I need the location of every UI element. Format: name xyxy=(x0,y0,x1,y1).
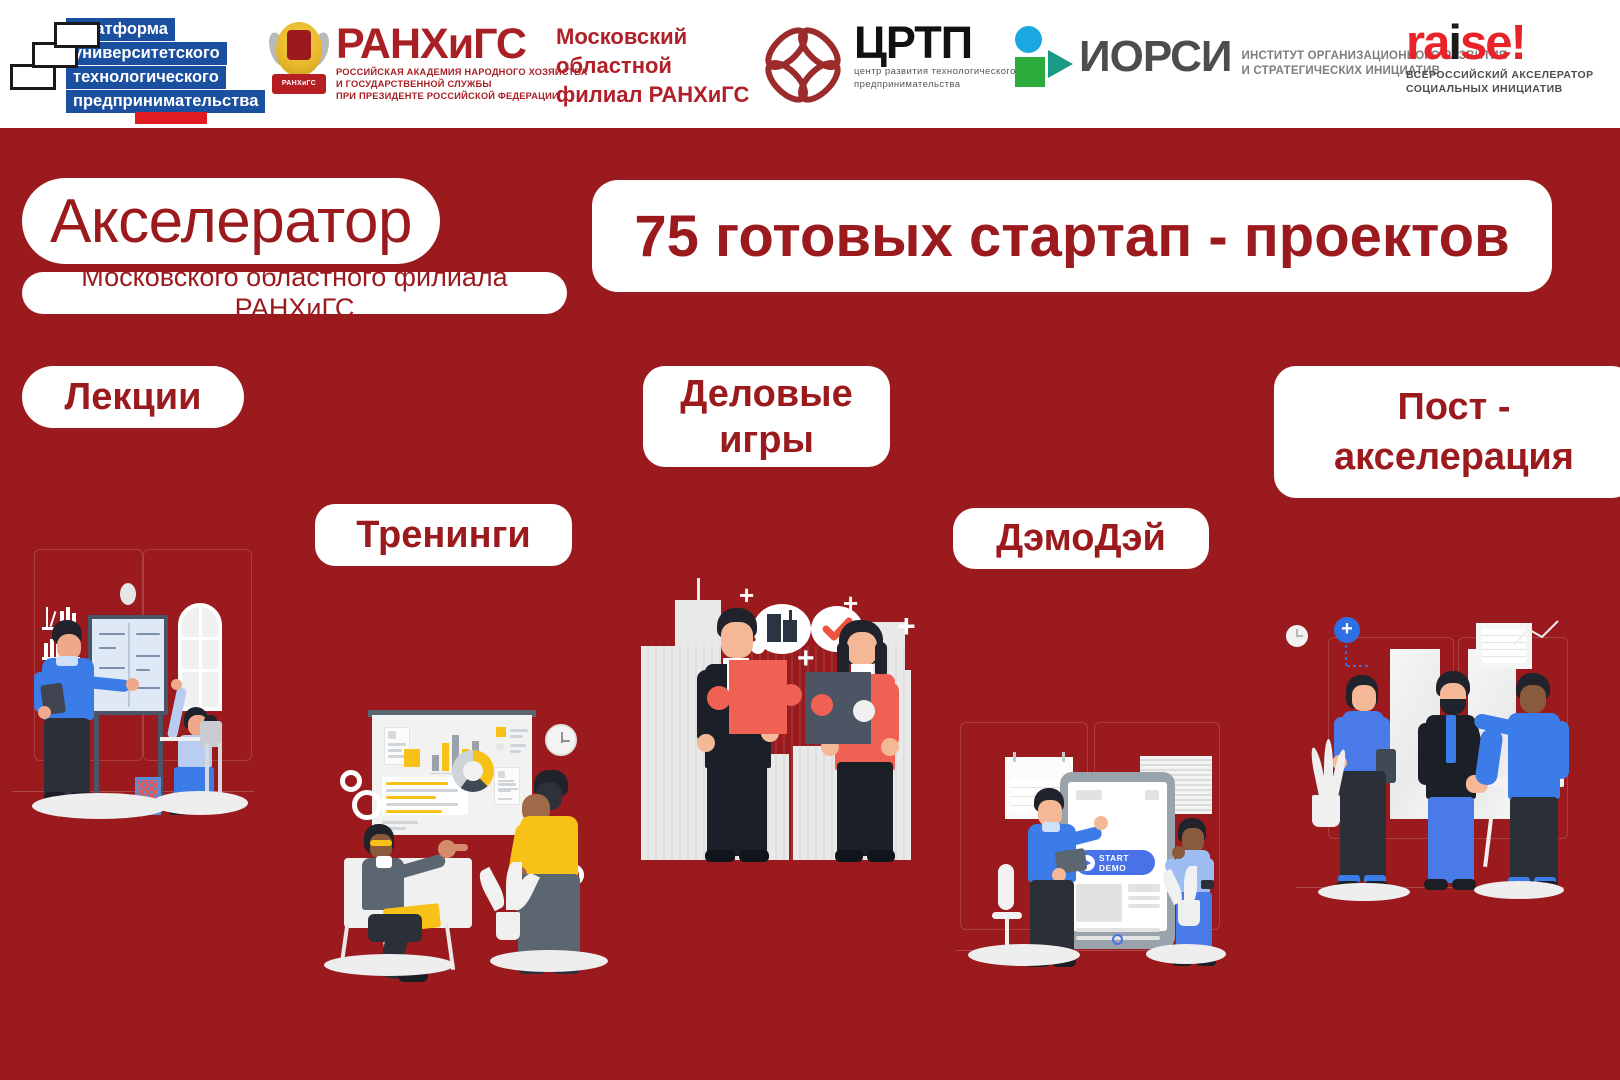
emblem-ribbon-label: РАНХиГС xyxy=(272,74,326,94)
potted-plant-icon xyxy=(496,912,520,940)
iorsi-wordmark: ИОРСИ xyxy=(1079,34,1232,80)
ranhigs-wordmark: РАНХиГС xyxy=(336,22,588,66)
lecture-illustration xyxy=(0,545,265,840)
trend-line-icon xyxy=(1512,619,1560,649)
logo-ranhigs: РАНХиГС РАНХиГС РОССИЙСКАЯ АКАДЕМИЯ НАРО… xyxy=(270,16,588,108)
colleague-figure xyxy=(1500,673,1572,895)
logo-raise: raise! ВСЕРОССИЙСКИЙ АКСЕЛЕРАТОР СОЦИАЛЬ… xyxy=(1406,18,1594,96)
plus-badge-icon: + xyxy=(1334,617,1360,643)
presentation-slide: Платформа университетского технологическ… xyxy=(0,0,1620,1080)
gear-icon xyxy=(340,770,362,792)
teacher-figure xyxy=(30,620,110,810)
training-illustration xyxy=(300,672,590,972)
home-button-icon xyxy=(1112,934,1123,945)
russian-coat-of-arms-icon: РАНХиГС xyxy=(270,16,328,108)
wall-clock-icon xyxy=(1286,625,1308,647)
presenter-figure xyxy=(1022,788,1106,970)
crtp-wordmark: ЦРТП xyxy=(854,20,1016,66)
putp-line-4: предпринимательства xyxy=(66,90,265,113)
games-line-2: игры xyxy=(680,417,852,463)
seated-woman-figure xyxy=(354,824,474,972)
stage-label-demo-day: ДэмоДэй xyxy=(953,508,1209,569)
demo-day-illustration: START DEMO xyxy=(950,722,1215,972)
page-title-accelerator: Акселератор xyxy=(22,178,440,264)
ranhigs-sub-1: РОССИЙСКАЯ АКАДЕМИЯ НАРОДНОГО ХОЗЯЙСТВА xyxy=(336,66,588,78)
puzzle-piece-red xyxy=(729,660,787,734)
potted-plant-icon xyxy=(1312,795,1340,827)
stage-label-trainings: Тренинги xyxy=(315,504,572,566)
business-games-illustration: + + + + xyxy=(625,560,910,860)
postacc-line-2: акселерация xyxy=(1334,432,1574,482)
plus-decoration-icon: + xyxy=(739,582,754,608)
mob-line-3: филиал РАНХиГС xyxy=(556,80,749,109)
mob-line-1: Московский xyxy=(556,22,749,51)
mob-line-2: областной xyxy=(556,51,749,80)
stage-label-lectures: Лекции xyxy=(22,366,244,428)
post-acceleration-illustration: + xyxy=(1262,605,1562,895)
logo-header-bar: Платформа университетского технологическ… xyxy=(0,0,1620,128)
steps-icon xyxy=(10,24,82,108)
raise-sub-1: ВСЕРОССИЙСКИЙ АКСЕЛЕРАТОР xyxy=(1406,68,1594,82)
raise-sub-2: СОЦИАЛЬНЫХ ИНИЦИАТИВ xyxy=(1406,82,1594,96)
crtp-butterfly-icon xyxy=(760,22,846,108)
putp-red-bar xyxy=(135,112,207,124)
postacc-line-1: Пост - xyxy=(1334,382,1574,432)
putp-line-3: технологического xyxy=(66,66,226,89)
logo-crtp: ЦРТП центр развития технологического пре… xyxy=(760,20,1016,91)
startups-count-badge: 75 готовых стартап - проектов xyxy=(592,180,1552,292)
stage-label-business-games: Деловые игры xyxy=(643,366,890,467)
donut-chart-icon xyxy=(452,750,494,792)
woman-figure xyxy=(1332,675,1396,895)
iorsi-shapes-icon xyxy=(1015,26,1073,88)
logo-moskovskiy-oblastnoy-filial: Московский областной филиал РАНХиГС xyxy=(556,22,749,109)
crtp-sub-1: центр развития технологического xyxy=(854,66,1016,79)
wall-clock-icon xyxy=(545,724,577,756)
ranhigs-sub-3: ПРИ ПРЕЗИДЕНТЕ РОССИЙСКОЙ ФЕДЕРАЦИИ xyxy=(336,90,588,102)
start-demo-label: START DEMO xyxy=(1099,853,1155,873)
ranhigs-sub-2: И ГОСУДАРСТВЕННОЙ СЛУЖБЫ xyxy=(336,78,588,90)
logo-platforma-utp: Платформа университетского технологическ… xyxy=(10,18,265,114)
raise-wordmark: raise! xyxy=(1406,18,1594,68)
businessman-figure xyxy=(697,608,797,860)
gear-icon xyxy=(352,790,382,820)
crtp-sub-2: предпринимательства xyxy=(854,79,1016,92)
page-subtitle-branch: Московского областного филиала РАНХиГС xyxy=(22,272,567,314)
games-line-1: Деловые xyxy=(680,371,852,417)
stage-label-post-acceleration: Пост - акселерация xyxy=(1274,366,1620,498)
wall-clock-icon xyxy=(120,583,136,605)
